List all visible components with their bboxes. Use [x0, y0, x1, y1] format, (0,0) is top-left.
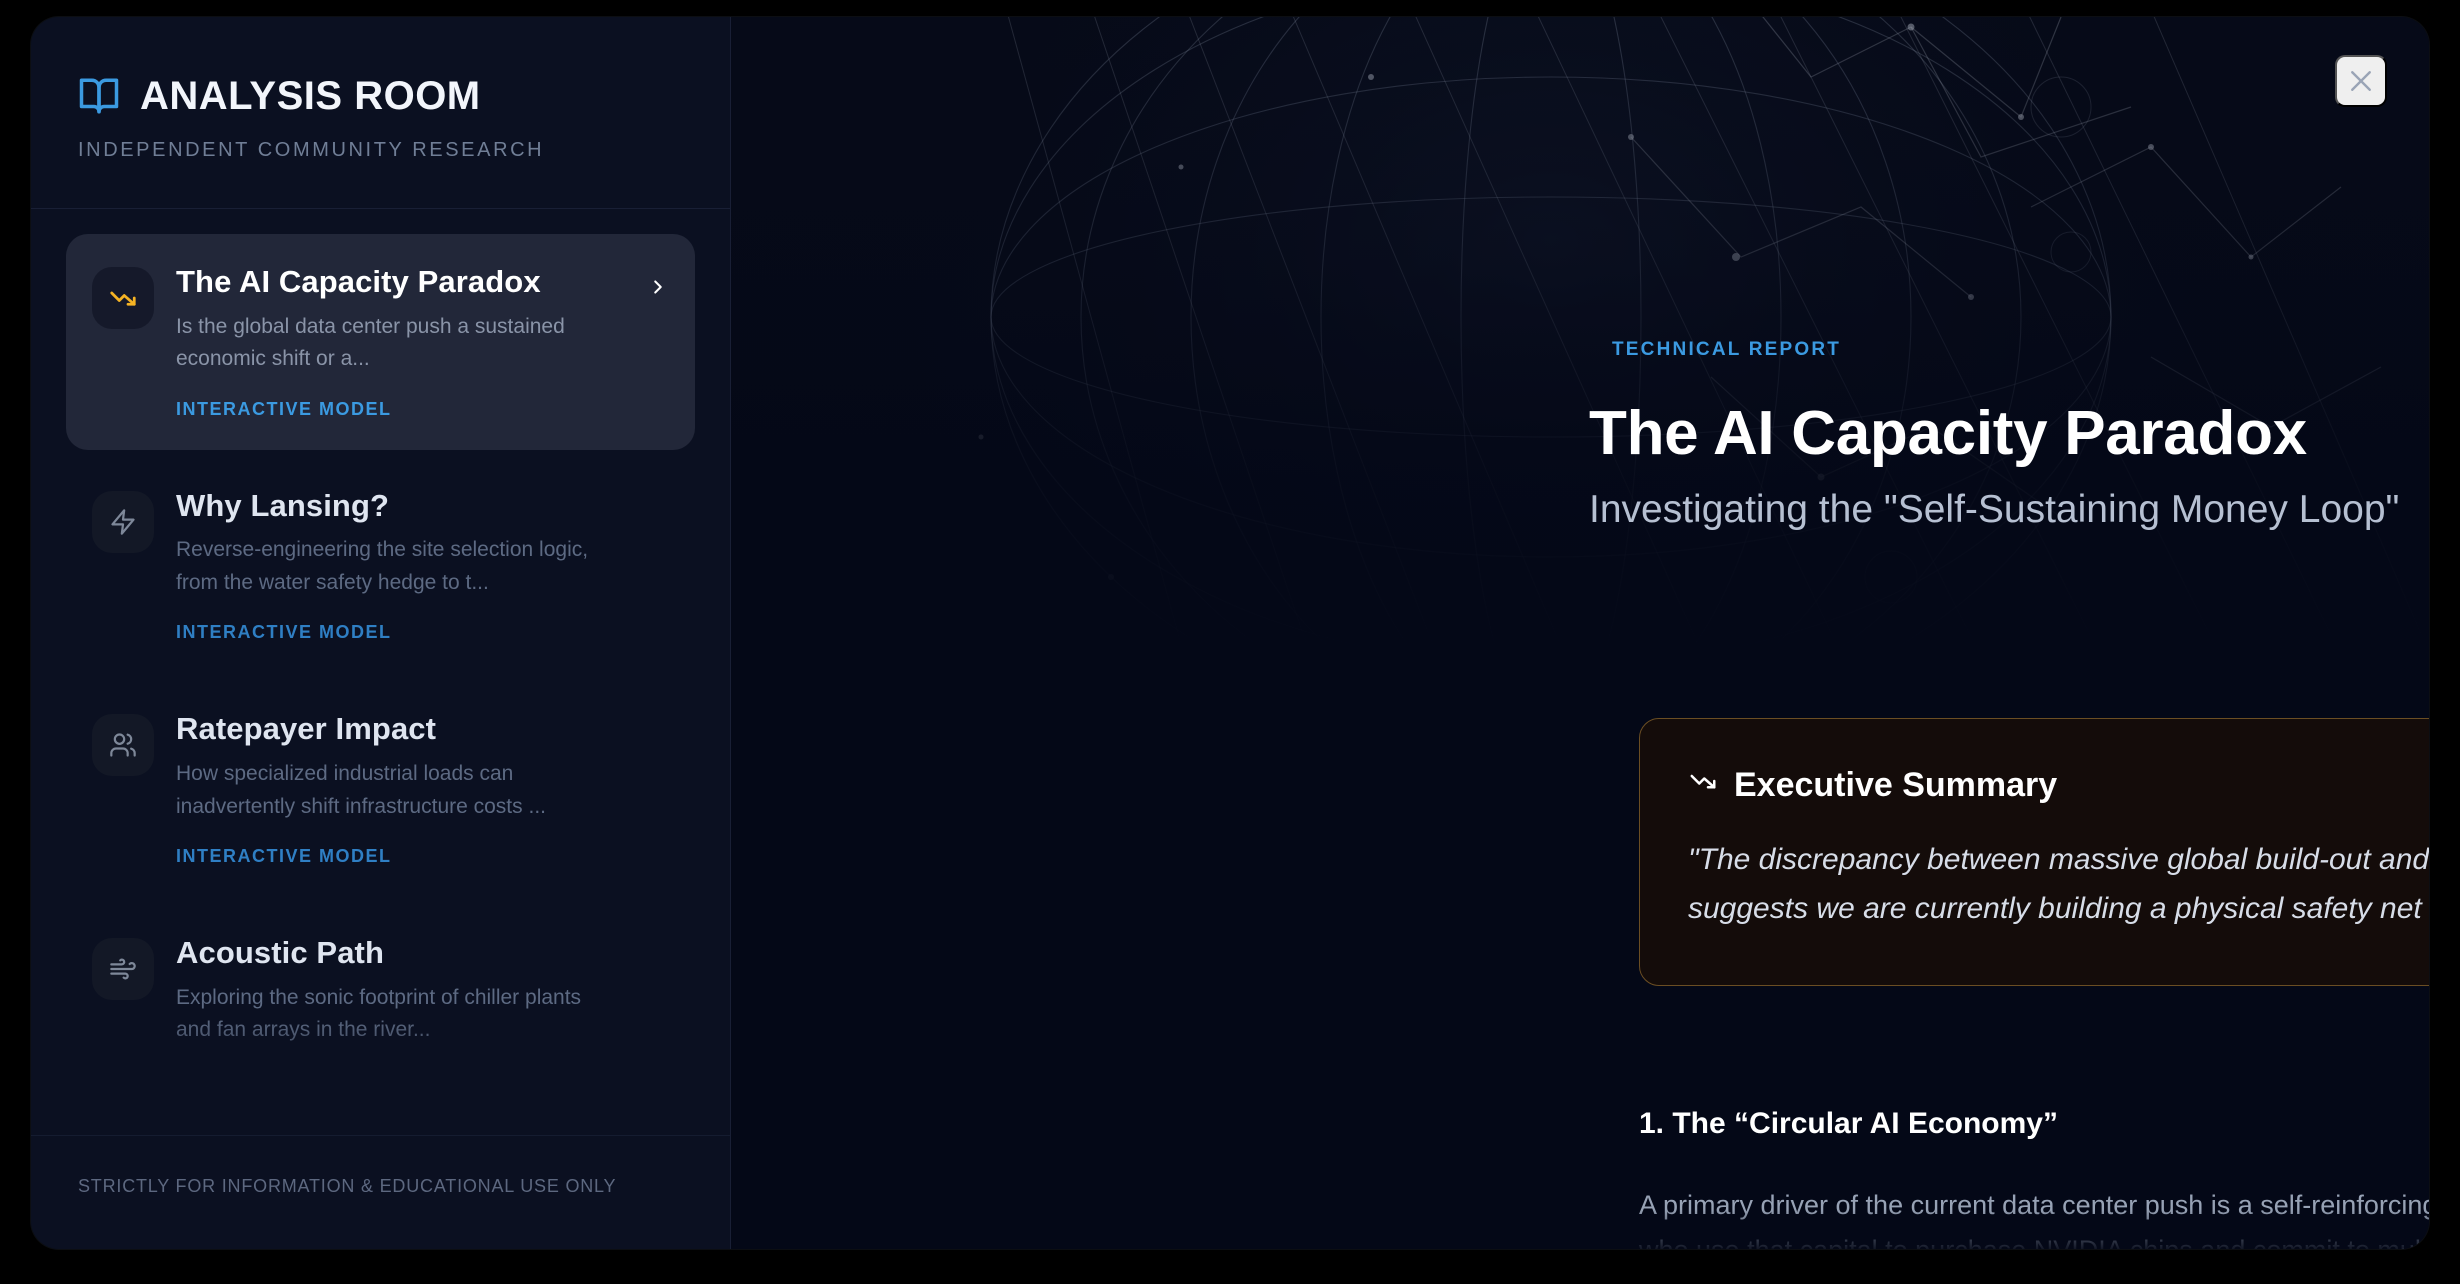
sidebar-item-badge: INTERACTIVE MODEL: [176, 622, 659, 643]
sidebar-item-body: Acoustic Path Exploring the sonic footpr…: [176, 935, 669, 1047]
chevron-right-icon[interactable]: [647, 276, 669, 303]
hero-banner: [731, 17, 2429, 657]
sidebar-item-acoustic-path[interactable]: Acoustic Path Exploring the sonic footpr…: [66, 905, 695, 1077]
sidebar-item-title: Acoustic Path: [176, 935, 659, 971]
sidebar-item-title: Why Lansing?: [176, 488, 659, 524]
sidebar-item-why-lansing[interactable]: Why Lansing? Reverse-engineering the sit…: [66, 458, 695, 674]
disclaimer-text: STRICTLY FOR INFORMATION & EDUCATIONAL U…: [78, 1176, 730, 1197]
page-subtitle: Investigating the "Self-Sustaining Money…: [1589, 487, 2399, 534]
users-icon: [92, 714, 154, 776]
executive-summary-heading: Executive Summary: [1688, 766, 2429, 805]
sidebar-item-body: Why Lansing? Reverse-engineering the sit…: [176, 488, 669, 644]
executive-summary-quote: "The discrepancy between massive global …: [1688, 835, 2429, 933]
sidebar-item-title: The AI Capacity Paradox: [176, 264, 615, 300]
sidebar-item-desc: Reverse-engineering the site selection l…: [176, 534, 616, 599]
report-eyebrow: TECHNICAL REPORT: [1612, 339, 1841, 361]
executive-summary-title: Executive Summary: [1734, 766, 2057, 805]
sidebar-footer: STRICTLY FOR INFORMATION & EDUCATIONAL U…: [31, 1135, 730, 1249]
sidebar-item-badge: INTERACTIVE MODEL: [176, 399, 615, 420]
report-list[interactable]: The AI Capacity Paradox Is the global da…: [31, 209, 730, 1135]
main-panel: TECHNICAL REPORT The AI Capacity Paradox…: [731, 17, 2429, 1249]
sidebar-item-badge: INTERACTIVE MODEL: [176, 846, 659, 867]
analysis-room-modal: ANALYSIS ROOM INDEPENDENT COMMUNITY RESE…: [31, 17, 2429, 1249]
app-root: ANALYSIS ROOM INDEPENDENT COMMUNITY RESE…: [0, 0, 2460, 1284]
sidebar-item-desc: How specialized industrial loads can ina…: [176, 758, 616, 823]
page-title: The AI Capacity Paradox: [1589, 401, 2307, 466]
brand-subtitle: INDEPENDENT COMMUNITY RESEARCH: [78, 139, 730, 162]
sidebar-item-desc: Is the global data center push a sustain…: [176, 311, 615, 376]
hero-gradient-overlay: [731, 17, 2429, 657]
sidebar-item-title: Ratepayer Impact: [176, 711, 659, 747]
brand-title: ANALYSIS ROOM: [140, 76, 481, 116]
lightning-bolt-icon: [92, 491, 154, 553]
sidebar: ANALYSIS ROOM INDEPENDENT COMMUNITY RESE…: [31, 17, 731, 1249]
sidebar-item-body: The AI Capacity Paradox Is the global da…: [176, 264, 625, 420]
section-heading: 1. The “Circular AI Economy”: [1639, 1107, 2058, 1141]
wind-icon: [92, 938, 154, 1000]
close-icon[interactable]: [2335, 55, 2387, 107]
sidebar-header: ANALYSIS ROOM INDEPENDENT COMMUNITY RESE…: [31, 17, 730, 209]
sidebar-item-desc: Exploring the sonic footprint of chiller…: [176, 982, 616, 1047]
sidebar-item-body: Ratepayer Impact How specialized industr…: [176, 711, 669, 867]
trending-down-icon: [1688, 766, 1718, 805]
executive-summary-card: Executive Summary "The discrepancy betwe…: [1639, 718, 2429, 986]
book-open-icon: [78, 75, 120, 117]
sidebar-item-ratepayer-impact[interactable]: Ratepayer Impact How specialized industr…: [66, 681, 695, 897]
brand: ANALYSIS ROOM: [78, 75, 730, 117]
section-paragraph: A primary driver of the current data cen…: [1639, 1183, 2429, 1249]
trending-down-icon: [92, 267, 154, 329]
sidebar-item-the-ai-capacity-paradox[interactable]: The AI Capacity Paradox Is the global da…: [66, 234, 695, 450]
